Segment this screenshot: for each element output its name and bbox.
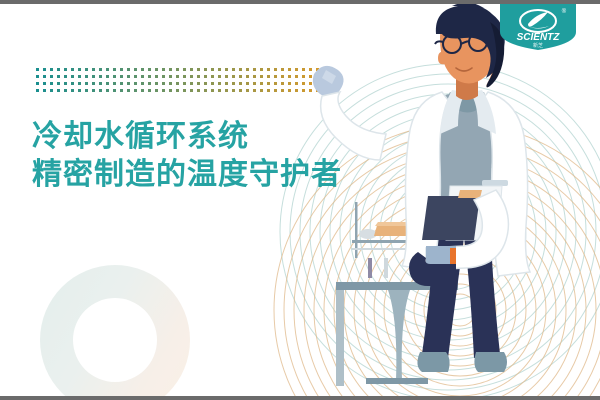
- dot-row: [36, 68, 330, 75]
- dot: [64, 75, 67, 78]
- shoe-left: [417, 352, 449, 372]
- dot: [295, 89, 298, 92]
- headline-line-1: 冷却水循环系统: [32, 118, 342, 156]
- dot: [106, 75, 109, 78]
- dot: [190, 68, 193, 71]
- dot: [99, 89, 102, 92]
- dot: [197, 89, 200, 92]
- dot: [239, 82, 242, 85]
- clipboard-board: [422, 196, 480, 240]
- dot: [85, 68, 88, 71]
- dot: [183, 68, 186, 71]
- dot: [78, 82, 81, 85]
- dot: [162, 68, 165, 71]
- dot: [85, 89, 88, 92]
- dot: [50, 68, 53, 71]
- dot: [267, 68, 270, 71]
- dot: [176, 82, 179, 85]
- dot: [92, 68, 95, 71]
- dot: [169, 82, 172, 85]
- dot: [78, 75, 81, 78]
- dot: [106, 89, 109, 92]
- dot-row: [36, 82, 330, 89]
- dot: [274, 68, 277, 71]
- dot: [246, 89, 249, 92]
- coat-pocket: [482, 180, 508, 186]
- shelf-vial-a: [368, 258, 372, 278]
- dot: [50, 82, 53, 85]
- dot: [36, 82, 39, 85]
- dot: [92, 82, 95, 85]
- dot: [183, 89, 186, 92]
- dot: [134, 82, 137, 85]
- headline-block: 冷却水循环系统 精密制造的温度守护者: [32, 118, 342, 194]
- dot: [92, 89, 95, 92]
- dot: [295, 75, 298, 78]
- dot: [218, 75, 221, 78]
- logo-wordmark: SCIENTZ: [517, 32, 561, 43]
- dot: [71, 75, 74, 78]
- shoe-right: [474, 352, 507, 372]
- scientz-logo[interactable]: SCIENTZ 新芝 ®: [498, 4, 578, 50]
- dot: [71, 82, 74, 85]
- dot: [127, 89, 130, 92]
- registered-mark-icon: ®: [562, 8, 567, 15]
- table-side-panel: [336, 290, 344, 386]
- dot: [155, 68, 158, 71]
- dot: [253, 68, 256, 71]
- dot: [288, 68, 291, 71]
- table-pedestal: [388, 290, 410, 380]
- dot: [141, 89, 144, 92]
- dot-grid: [36, 68, 330, 96]
- dot: [169, 75, 172, 78]
- dot: [197, 68, 200, 71]
- dot: [246, 68, 249, 71]
- dot: [155, 89, 158, 92]
- dot: [232, 68, 235, 71]
- dot: [106, 82, 109, 85]
- shelf-bowl: [359, 229, 377, 239]
- dot: [106, 68, 109, 71]
- dot: [274, 82, 277, 85]
- dot: [169, 68, 172, 71]
- dot: [57, 68, 60, 71]
- dot: [43, 68, 46, 71]
- dot: [64, 89, 67, 92]
- dot: [99, 75, 102, 78]
- dot: [113, 82, 116, 85]
- dot: [134, 89, 137, 92]
- dot: [85, 82, 88, 85]
- dot: [288, 89, 291, 92]
- table-base: [366, 378, 428, 384]
- dot: [246, 75, 249, 78]
- dot: [260, 75, 263, 78]
- dot: [113, 68, 116, 71]
- dot: [225, 89, 228, 92]
- dot: [99, 82, 102, 85]
- dot: [211, 82, 214, 85]
- dot-row: [36, 89, 330, 96]
- dot: [155, 75, 158, 78]
- dot: [295, 68, 298, 71]
- dot: [204, 68, 207, 71]
- dot: [211, 89, 214, 92]
- shelf-vial-b: [384, 258, 388, 278]
- dot: [64, 68, 67, 71]
- dot: [253, 75, 256, 78]
- dot: [162, 75, 165, 78]
- dot: [274, 75, 277, 78]
- dot: [218, 89, 221, 92]
- dot: [295, 82, 298, 85]
- dot: [253, 89, 256, 92]
- dot: [50, 75, 53, 78]
- dot: [57, 75, 60, 78]
- dot: [162, 89, 165, 92]
- scientist-illustration: [300, 0, 600, 396]
- dot: [57, 82, 60, 85]
- dot-row: [36, 75, 330, 82]
- dot: [148, 82, 151, 85]
- dot: [36, 89, 39, 92]
- dot: [253, 82, 256, 85]
- logo-sub-wordmark: 新芝: [533, 42, 543, 49]
- dot: [267, 89, 270, 92]
- dot: [120, 82, 123, 85]
- dot: [43, 75, 46, 78]
- dot: [239, 89, 242, 92]
- dot: [281, 68, 284, 71]
- dot: [281, 75, 284, 78]
- dot: [197, 75, 200, 78]
- dot: [260, 82, 263, 85]
- dot: [134, 68, 137, 71]
- dot: [155, 82, 158, 85]
- logo-svg: SCIENTZ 新芝 ®: [498, 4, 578, 50]
- dot: [218, 82, 221, 85]
- dot: [267, 75, 270, 78]
- dot: [43, 82, 46, 85]
- dot: [148, 75, 151, 78]
- dot: [225, 75, 228, 78]
- dot: [141, 82, 144, 85]
- dot: [176, 68, 179, 71]
- top-frame-bar: [0, 0, 600, 4]
- headline-line-2: 精密制造的温度守护者: [32, 156, 342, 194]
- dot: [148, 89, 151, 92]
- dot: [36, 68, 39, 71]
- dot: [50, 89, 53, 92]
- dot: [43, 89, 46, 92]
- dot: [148, 68, 151, 71]
- dot: [281, 89, 284, 92]
- dot: [197, 82, 200, 85]
- dot: [225, 68, 228, 71]
- dot: [232, 82, 235, 85]
- dot: [183, 82, 186, 85]
- dot: [162, 82, 165, 85]
- dot: [204, 89, 207, 92]
- dot: [190, 75, 193, 78]
- dot: [190, 82, 193, 85]
- dot: [85, 75, 88, 78]
- ear-shape: [438, 52, 446, 65]
- dot: [71, 89, 74, 92]
- dot: [36, 75, 39, 78]
- dot: [281, 82, 284, 85]
- dot: [113, 75, 116, 78]
- dot: [71, 68, 74, 71]
- dot: [127, 82, 130, 85]
- dot: [267, 82, 270, 85]
- soft-gradient-ring: [40, 265, 190, 400]
- dot: [288, 75, 291, 78]
- dot: [232, 75, 235, 78]
- dot: [260, 68, 263, 71]
- dot: [239, 68, 242, 71]
- dot: [288, 82, 291, 85]
- dot: [169, 89, 172, 92]
- promo-poster: 冷却水循环系统 精密制造的温度守护者: [0, 0, 600, 400]
- dot: [218, 68, 221, 71]
- dot: [78, 89, 81, 92]
- dot: [141, 68, 144, 71]
- dot: [127, 75, 130, 78]
- dot: [141, 75, 144, 78]
- dot: [204, 75, 207, 78]
- dot: [176, 75, 179, 78]
- dot: [274, 89, 277, 92]
- dot: [225, 82, 228, 85]
- dot: [92, 75, 95, 78]
- dot: [120, 68, 123, 71]
- bottom-frame-bar: [0, 396, 600, 400]
- dot: [120, 75, 123, 78]
- dot: [127, 68, 130, 71]
- dot: [183, 75, 186, 78]
- dot: [204, 82, 207, 85]
- clipboard-clip: [458, 190, 482, 198]
- dot: [176, 89, 179, 92]
- dot: [64, 82, 67, 85]
- dot: [113, 89, 116, 92]
- dot: [211, 75, 214, 78]
- dot: [120, 89, 123, 92]
- dot: [232, 89, 235, 92]
- scientist-svg: [300, 0, 600, 396]
- dot: [190, 89, 193, 92]
- dot: [57, 89, 60, 92]
- dot: [78, 68, 81, 71]
- dot: [99, 68, 102, 71]
- dot: [260, 89, 263, 92]
- dot: [211, 68, 214, 71]
- dot: [134, 75, 137, 78]
- dot: [239, 75, 242, 78]
- dot: [246, 82, 249, 85]
